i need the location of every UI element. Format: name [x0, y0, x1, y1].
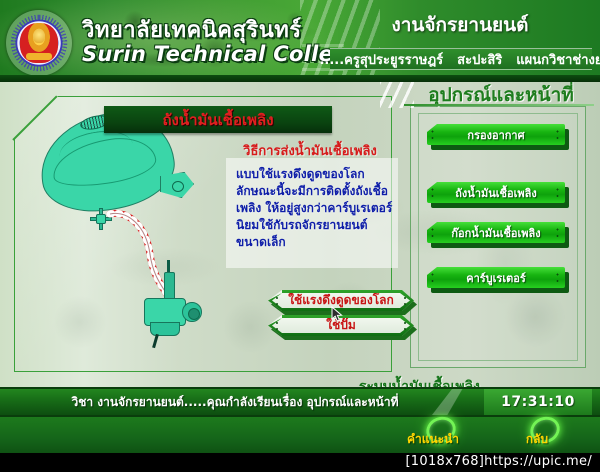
option-button-pump-feed[interactable]: ใช้ปั๊ม: [268, 315, 418, 340]
menu-button-label: ถังน้ำมันเชื้อเพลิง: [455, 184, 536, 202]
clock-display: 17:31:10: [484, 389, 592, 415]
menu-rivets-right-icon: [555, 187, 560, 199]
menu-button-carburetor[interactable]: คาร์บูเรเตอร์: [427, 267, 569, 293]
section-title-rule: [404, 104, 594, 106]
lesson-title: ถังน้ำมันเชื้อเพลิง: [162, 108, 273, 132]
watermark-text: [1018x768]https://upic.me/: [405, 454, 592, 469]
menu-button-air-filter[interactable]: กรองอากาศ: [427, 124, 569, 150]
menu-button-face: กรองอากาศ: [427, 124, 565, 145]
lesson-body-line-4: นิยมใช้กับรถจักรยานยนต์: [236, 217, 394, 234]
seal-emblem: [20, 23, 58, 63]
teacher-name: สะปะสิริ: [457, 49, 502, 70]
menu-rivets-left-icon: [430, 129, 435, 141]
help-button-label: คำแนะนำ: [390, 430, 476, 449]
option-rivets-right-icon: [402, 321, 408, 331]
menu-button-label: ก๊อกน้ำมันเชื้อเพลิง: [451, 224, 540, 242]
option-button-face: ใช้แรงดึงดูดของโลก: [268, 290, 414, 311]
back-button-label: กลับ: [494, 430, 580, 449]
lesson-title-banner: ถังน้ำมันเชื้อเพลิง: [104, 106, 332, 133]
watermark-bar: [1018x768]https://upic.me/: [0, 453, 600, 472]
menu-button-face: คาร์บูเรเตอร์: [427, 267, 565, 288]
back-button[interactable]: กลับ: [494, 419, 580, 451]
menu-rivets-right-icon: [555, 272, 560, 284]
lesson-body-line-3: เพลิง ให้อยู่สูงกว่าคาร์บูเรเตอร์: [236, 200, 394, 217]
menu-button-fuel-cock[interactable]: ก๊อกน้ำมันเชื้อเพลิง: [427, 222, 569, 248]
lesson-text-card: แบบใช้แรงดึงดูดของโลก ลักษณะนี้จะมีการติ…: [226, 158, 398, 268]
option-button-label: ใช้แรงดึงดูดของโลก: [288, 291, 394, 310]
option-button-face: ใช้ปั๊ม: [268, 315, 414, 336]
menu-button-face: ก๊อกน้ำมันเชื้อเพลิง: [427, 222, 565, 243]
carb-intake: [182, 302, 202, 322]
teacher-credit: .....ครูสุประยูรราษฎร์: [319, 49, 443, 70]
menu-button-label: คาร์บูเรเตอร์: [466, 269, 526, 287]
menu-button-face: ถังน้ำมันเชื้อเพลิง: [427, 182, 565, 203]
lesson-body-line-1: แบบใช้แรงดึงดูดของโลก: [236, 166, 394, 183]
department-name: แผนกวิชาช่างย: [516, 49, 600, 70]
teacher-credit-bar: .....ครูสุประยูรราษฎร์ สะปะสิริ แผนกวิชา…: [330, 48, 592, 70]
menu-rivets-left-icon: [430, 272, 435, 284]
app-header: วิทยาลัยเทคนิคสุรินทร์ Surin Technical C…: [0, 0, 600, 82]
help-button[interactable]: คำแนะนำ: [390, 419, 476, 451]
presentation-screen: วิทยาลัยเทคนิคสุรินทร์ Surin Technical C…: [0, 0, 600, 472]
option-button-gravity-feed[interactable]: ใช้แรงดึงดูดของโลก: [268, 290, 418, 315]
status-message: วิชา งานจักรยานยนต์.....คุณกำลังเรียนเรื…: [0, 389, 470, 415]
menu-rivets-left-icon: [430, 187, 435, 199]
lesson-body-line-2: ลักษณะนี้จะมีการติดตั้งถังเชื้อ: [236, 183, 394, 200]
nav-bar: คำแนะนำ กลับ: [0, 417, 600, 453]
content-stage: อุปกรณ์และหน้าที่: [0, 82, 600, 387]
college-seal-icon: [6, 10, 72, 76]
tank-mount-tab: [160, 172, 194, 198]
option-button-label: ใช้ปั๊ม: [326, 316, 356, 335]
subject-title: งานจักรยานยนต์: [330, 10, 590, 40]
lesson-body-line-5: ขนาดเล็ก: [236, 234, 394, 251]
carburetor-icon: [134, 272, 206, 342]
menu-button-label: กรองอากาศ: [467, 126, 524, 144]
option-rivets-right-icon: [402, 296, 408, 306]
carb-float-bowl: [150, 322, 180, 336]
fuel-tank-diagram: [18, 104, 198, 344]
menu-rivets-left-icon: [430, 227, 435, 239]
option-rivets-left-icon: [274, 296, 280, 306]
menu-button-fuel-tank[interactable]: ถังน้ำมันเชื้อเพลิง: [427, 182, 569, 208]
option-rivets-left-icon: [274, 321, 280, 331]
status-bar: วิชา งานจักรยานยนต์.....คุณกำลังเรียนเรื…: [0, 387, 600, 417]
menu-rivets-right-icon: [555, 129, 560, 141]
menu-rivets-right-icon: [555, 227, 560, 239]
